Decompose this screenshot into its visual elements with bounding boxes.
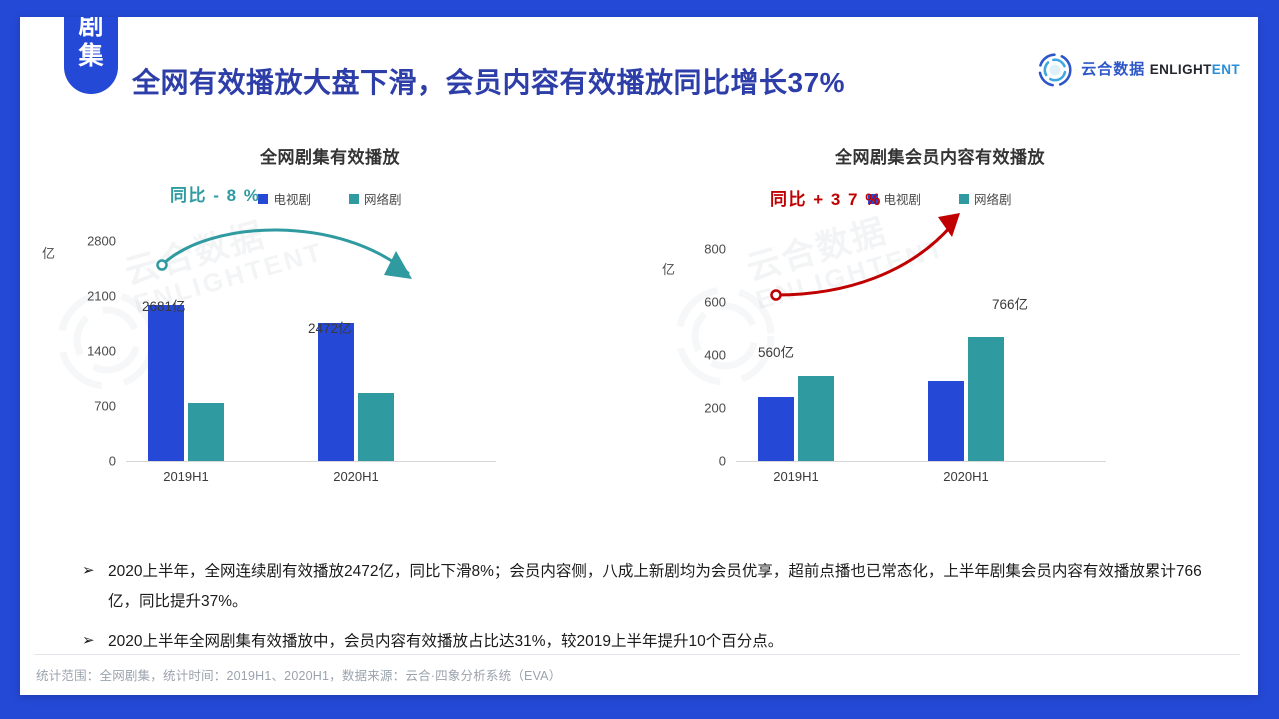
legend-swatch-icon [349,194,359,204]
brand-name-en-dark: ENLIGHT [1150,62,1212,77]
chart-total-drama-playback: 全网剧集有效播放 电视剧 网络剧 云合数据 ENLIGHTEN [30,127,630,547]
legend-label: 电视剧 [883,189,921,208]
bullet-text: 2020上半年，全网连续剧有效播放2472亿，同比下滑8%；会员内容侧，八成上新… [108,557,1222,617]
bar-2019h1-tv [758,397,794,461]
bar-2020h1-web [968,337,1004,461]
bullet-text: 2020上半年全网剧集有效播放中，会员内容有效播放占比达31%，较2019上半年… [108,627,783,657]
bar-total-label-2020h1: 2472亿 [308,317,352,337]
legend-item-web-drama: 网络剧 [959,189,1012,208]
y-tick: 1400 [70,344,116,359]
bar-total-label-2019h1: 2681亿 [142,295,186,315]
chart-legend-left: 电视剧 网络剧 [30,189,630,208]
bar-total-label-2020h1: 766亿 [992,293,1028,313]
trend-arrow-up-icon [760,203,990,333]
bar-total-label-2019h1: 560亿 [758,341,794,361]
bar-2020h1-tv [318,323,354,461]
bullet-marker-icon: ➢ [82,557,108,585]
chart-title-left: 全网剧集有效播放 [30,143,630,168]
watermark-cn: 云合数据 [118,193,320,294]
y-axis-left: 2800 2100 1400 700 0 [30,237,116,547]
legend-item-web-drama: 网络剧 [349,189,402,208]
y-axis-right: 800 600 400 200 0 [640,237,726,547]
chart-member-content-playback: 全网剧集会员内容有效播放 电视剧 网络剧 云合数据 ENLIG [640,127,1240,547]
y-tick: 0 [70,454,116,469]
x-axis-baseline-right [736,461,1106,462]
footer-divider [34,654,1240,655]
annotation-yoy-left: 同比 - 8 % [170,181,260,206]
brand-name-en: ENLIGHTENT [1150,62,1240,77]
x-tick-2020h1: 2020H1 [943,469,989,484]
y-tick: 700 [70,399,116,414]
bar-2019h1-tv [148,305,184,461]
x-tick-2019h1: 2019H1 [163,469,209,484]
brand-name-en-light: ENT [1212,62,1240,77]
category-badge-char-1: 剧 [64,17,118,41]
bar-2020h1-tv [928,381,964,461]
y-tick: 200 [680,401,726,416]
y-tick: 0 [680,454,726,469]
enlightent-ring-icon [1038,53,1072,87]
bar-2019h1-web [188,403,224,461]
slide-outer-frame: 剧 集 全网有效播放大盘下滑，会员内容有效播放同比增长37% 云合数据 ENLI… [0,0,1279,719]
bullet-marker-icon: ➢ [82,627,108,655]
y-tick: 600 [680,295,726,310]
footer-note: 统计范围：全网剧集，统计时间：2019H1、2020H1，数据来源：云合·四象分… [36,665,561,684]
legend-label: 电视剧 [273,189,311,208]
x-tick-2020h1: 2020H1 [333,469,379,484]
brand-name-cn: 云合数据 [1081,61,1145,78]
legend-label: 网络剧 [364,189,402,208]
x-axis-baseline-left [126,461,496,462]
watermark-en: ENLIGHTENT [752,232,949,316]
plot-area-right: 云合数据 ENLIGHTENT 亿 800 600 400 200 0 [640,237,1240,547]
bar-2019h1-web [798,376,834,461]
bar-2020h1-web [358,393,394,461]
bullet-item: ➢ 2020上半年，全网连续剧有效播放2472亿，同比下滑8%；会员内容侧，八成… [82,557,1222,617]
plot-area-left: 云合数据 ENLIGHTENT 亿 2800 2100 1400 700 [30,237,630,547]
annotation-yoy-right: 同比 + 3 7 % [770,185,882,210]
bullet-item: ➢ 2020上半年全网剧集有效播放中，会员内容有效播放占比达31%，较2019上… [82,627,1222,657]
summary-bullets: ➢ 2020上半年，全网连续剧有效播放2472亿，同比下滑8%；会员内容侧，八成… [82,557,1222,667]
y-tick: 2100 [70,289,116,304]
y-tick: 800 [680,242,726,257]
legend-label: 网络剧 [974,189,1012,208]
y-tick: 2800 [70,234,116,249]
charts-region: 全网剧集有效播放 电视剧 网络剧 云合数据 ENLIGHTEN [20,127,1258,547]
chart-title-right: 全网剧集会员内容有效播放 [640,143,1240,168]
slide-card: 剧 集 全网有效播放大盘下滑，会员内容有效播放同比增长37% 云合数据 ENLI… [20,17,1258,695]
x-tick-2019h1: 2019H1 [773,469,819,484]
legend-item-tv-drama: 电视剧 [258,189,311,208]
chart-legend-right: 电视剧 网络剧 [640,189,1240,208]
brand-logo: 云合数据 ENLIGHTENT [1038,53,1240,87]
y-tick: 400 [680,348,726,363]
brand-logo-text: 云合数据 ENLIGHTENT [1081,61,1240,78]
page-title: 全网有效播放大盘下滑，会员内容有效播放同比增长37% [132,61,845,101]
category-badge: 剧 集 [64,17,118,94]
legend-swatch-icon [959,194,969,204]
category-badge-char-2: 集 [64,41,118,71]
